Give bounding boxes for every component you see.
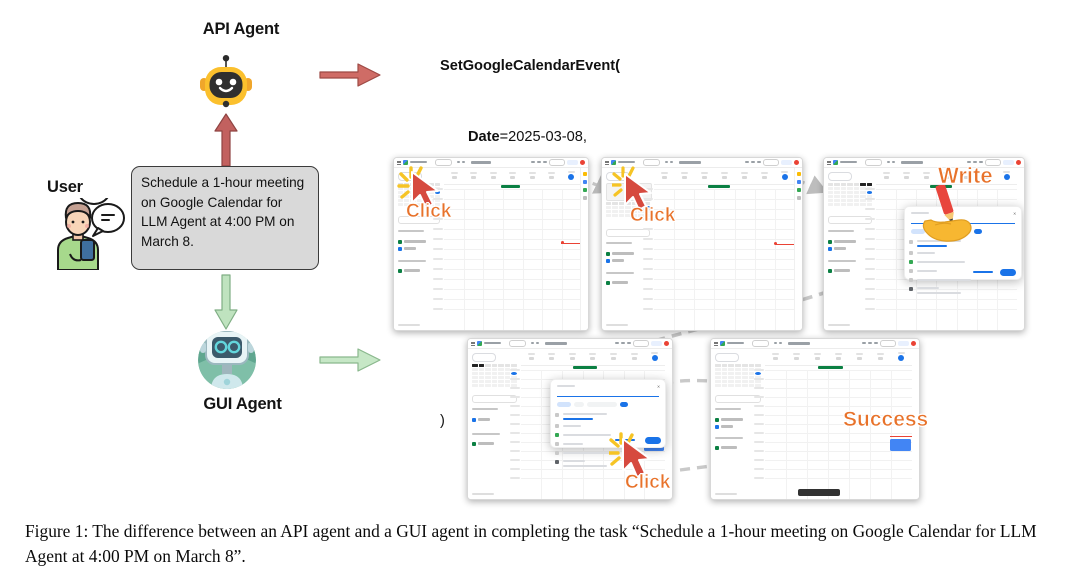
event-location-4[interactable] [563,443,583,445]
event-calendar-owner-4[interactable] [563,460,585,462]
created-event-block-5[interactable] [890,439,910,451]
user-avatar-icon [48,198,126,270]
today-button-4[interactable] [509,340,526,347]
help-icon[interactable] [868,342,872,344]
person-icon [555,424,559,428]
event-guests-3[interactable] [917,252,935,254]
hour-grid-1[interactable] [444,189,581,331]
event-meet-3[interactable] [917,261,965,263]
settings-gear-icon[interactable] [627,342,631,344]
current-time-line-5 [890,436,911,437]
google-calendar-logo-icon [720,341,725,346]
my-calendars-label-2 [606,242,632,244]
my-calendars-label-5 [715,408,741,410]
save-button-3[interactable] [1000,269,1016,276]
help-icon[interactable] [751,161,755,163]
current-time-line-1 [561,243,581,244]
view-select-5[interactable] [880,340,896,347]
apps-grid-icon[interactable] [651,341,662,347]
sidebar-footer-links-2[interactable] [606,324,628,326]
event-meet-4[interactable] [563,434,611,436]
google-calendar-logo-icon [833,160,838,165]
api-param-value-date: =2025-03-08, [500,129,587,145]
event-visibility-3[interactable] [917,292,961,294]
api-function-name: SetGoogleCalendarEvent( [440,58,620,74]
my-calendars-list-1[interactable] [398,240,440,254]
arrow-user-to-gui-agent [206,273,246,336]
account-avatar-3[interactable] [1016,160,1022,166]
hamburger-icon[interactable] [605,160,609,164]
other-calendars-list-1[interactable] [398,269,440,276]
next-month-icon[interactable] [892,161,895,163]
event-location-3[interactable] [917,270,937,272]
next-month-icon[interactable] [670,161,673,163]
view-select-4[interactable] [633,340,649,347]
calendar-top-bar-4 [468,339,672,349]
arrow-gui-to-screens [318,345,384,380]
api-agent-robot-icon [198,55,254,113]
settings-gear-icon[interactable] [874,342,878,344]
arrow-api-to-code [318,60,384,95]
location-icon [555,442,559,446]
figure-root: API Agent User [0,0,1080,573]
app-name-label-5 [727,342,744,344]
create-event-button-3[interactable] [828,172,852,181]
sidebar-footer-links-1[interactable] [398,324,420,326]
other-calendars-label-5 [715,437,743,439]
calendar-top-bar-5 [711,339,919,349]
create-event-button-4[interactable] [472,353,496,362]
writing-hand-icon [915,185,987,247]
figure-caption: Figure 1: The difference between an API … [25,519,1060,568]
search-people-input-2[interactable] [606,229,650,237]
day-header-row-1 [444,168,581,185]
day-header-row-5 [765,349,912,366]
api-param-key-date: Date [468,129,500,145]
close-icon[interactable]: ✕ [657,384,661,388]
account-avatar-4[interactable] [664,341,670,347]
google-calendar-logo-icon [477,341,482,346]
prev-month-icon[interactable] [665,161,668,163]
api-call-closing-paren: ) [440,413,445,429]
other-calendars-list-2[interactable] [606,281,650,288]
gui-step-4-label: Click [625,472,670,494]
user-prompt-text: Schedule a 1-hour meeting on Google Cale… [141,175,304,249]
month-title-4 [545,342,567,345]
my-calendars-label-1 [398,230,424,232]
today-button-2[interactable] [643,159,660,166]
gui-agent-robot-icon [197,330,257,390]
side-panel-rail-2[interactable] [794,168,802,331]
month-title-1 [471,161,491,164]
gui-step-3-label: Write [938,163,993,189]
all-day-event-chip-5[interactable] [818,366,843,369]
search-icon[interactable] [862,342,866,344]
app-name-label-3 [840,161,857,163]
help-icon[interactable] [537,161,541,163]
view-select-2[interactable] [763,159,779,166]
sidebar-footer-links-4[interactable] [472,493,494,495]
search-icon[interactable] [531,161,535,163]
meet-icon [909,260,913,264]
search-icon[interactable] [615,342,619,344]
current-time-dot-2 [774,242,777,245]
event-guests-4[interactable] [563,425,581,427]
all-day-event-chip-4[interactable] [573,366,597,369]
today-button-3[interactable] [865,159,882,166]
prev-month-icon[interactable] [774,342,777,344]
all-day-event-chip-2[interactable] [708,185,731,188]
month-title-5 [788,342,810,345]
current-time-dot-1 [561,241,564,244]
gui-step-2-label: Click [630,205,675,227]
gui-agent-label: GUI Agent [185,395,300,414]
app-name-label-4 [484,342,501,344]
mini-calendar-3[interactable] [828,183,872,207]
event-tab-appointment-4[interactable] [587,402,617,407]
event-tab-task-4[interactable] [574,402,584,407]
next-month-icon[interactable] [536,342,539,344]
event-visibility-4[interactable] [563,465,607,467]
account-avatar-5[interactable] [911,341,917,347]
search-icon[interactable] [745,161,749,163]
google-calendar-logo-icon [611,160,616,165]
hamburger-icon[interactable] [471,341,475,345]
settings-gear-icon[interactable] [543,161,547,163]
mini-calendar-5[interactable] [715,364,761,388]
more-options-link-3[interactable] [973,271,993,273]
help-icon[interactable] [621,342,625,344]
account-avatar-1[interactable] [580,160,586,166]
hamburger-icon[interactable] [714,341,718,345]
event-tab-event-4[interactable] [557,402,571,407]
event-title-input-4[interactable] [557,396,659,397]
my-calendars-label-4 [472,408,498,410]
calendar-top-bar-3 [824,158,1024,168]
other-calendars-label-4 [472,433,500,435]
dialog-heading-4 [557,385,575,387]
month-title-3 [901,161,923,164]
user-prompt-bubble: Schedule a 1-hour meeting on Google Cale… [131,166,319,270]
next-month-icon[interactable] [779,342,782,344]
settings-gear-icon[interactable] [757,161,761,163]
other-calendars-label-1 [398,260,426,262]
day-header-row-4 [521,349,665,366]
prev-month-icon[interactable] [887,161,890,163]
search-people-input-3[interactable] [828,216,872,224]
calendar-icon [555,460,559,464]
other-calendars-label-2 [606,272,634,274]
meet-icon [555,433,559,437]
close-icon[interactable]: ✕ [1013,211,1017,215]
other-calendars-label-3 [828,260,856,262]
calendar-icon [909,287,913,291]
hamburger-icon[interactable] [827,160,831,164]
current-time-line-2 [775,244,795,245]
all-day-event-chip-1[interactable] [501,185,520,188]
prev-month-icon[interactable] [531,342,534,344]
clock-icon [909,240,913,244]
apps-grid-icon[interactable] [1003,160,1014,166]
person-icon [909,251,913,255]
apps-grid-icon[interactable] [781,160,792,166]
create-event-button-5[interactable] [715,353,739,362]
mini-calendar-4[interactable] [472,364,517,388]
today-button-5[interactable] [752,340,769,347]
other-calendars-list-3[interactable] [828,269,872,276]
event-timezone-4[interactable] [563,418,593,420]
next-month-icon[interactable] [462,161,465,163]
gui-step-1-label: Click [406,201,451,223]
description-icon [555,451,559,455]
sidebar-footer-links-5[interactable] [715,493,737,495]
calendar-week-grid-1[interactable] [444,168,581,331]
app-name-label-2 [618,161,635,163]
other-calendars-list-4[interactable] [472,442,517,449]
side-panel-rail-1[interactable] [580,168,588,331]
undo-snackbar-5[interactable] [798,489,840,496]
month-title-2 [679,161,701,164]
clock-icon [555,413,559,417]
apps-grid-icon[interactable] [898,341,909,347]
hour-grid-5[interactable] [765,370,912,500]
description-icon [909,278,913,282]
my-calendars-label-3 [828,230,854,232]
sidebar-footer-links-3[interactable] [828,324,850,326]
event-datetime-4[interactable] [563,413,607,415]
event-badge-4 [620,402,628,407]
view-select-1[interactable] [549,159,565,166]
user-label: User [47,178,127,197]
prev-month-icon[interactable] [457,161,460,163]
account-avatar-2[interactable] [794,160,800,166]
day-header-row-2 [654,168,795,185]
api-agent-label: API Agent [186,20,296,39]
location-icon [909,269,913,273]
calendar-week-grid-2[interactable] [654,168,795,331]
arrow-user-to-api-agent [206,112,246,173]
my-calendars-list-5[interactable] [715,418,761,432]
my-calendars-list-3[interactable] [828,240,872,254]
apps-grid-icon[interactable] [567,160,578,166]
gui-step-5-label: Success [843,408,928,432]
